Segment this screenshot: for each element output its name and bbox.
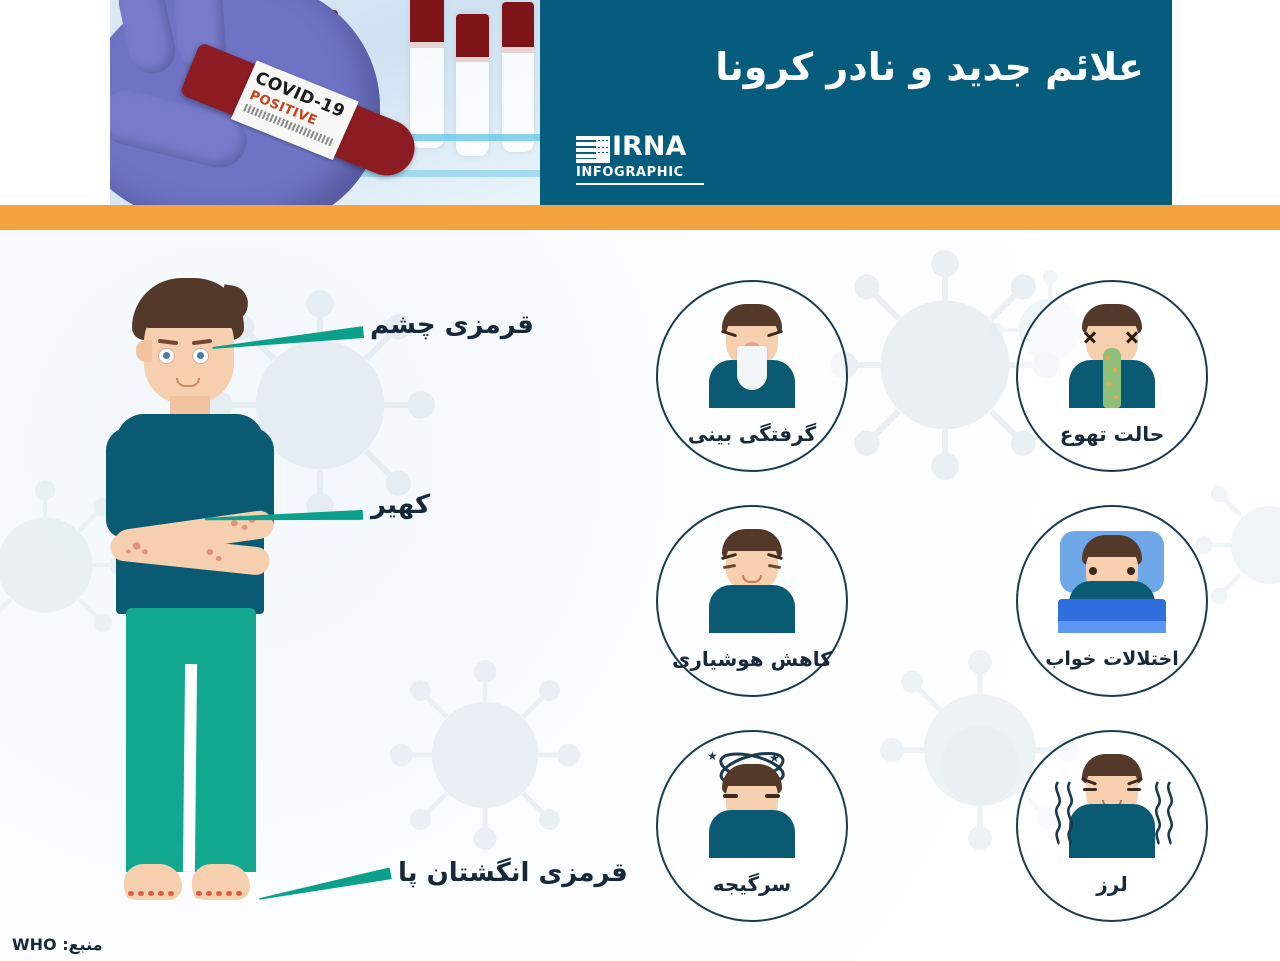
symptom-label: گرفتگی بینی — [658, 424, 846, 444]
symptom-card-reduced-consciousness[interactable]: کاهش هوشیاری — [656, 505, 848, 697]
chills-icon — [1053, 754, 1171, 858]
symptom-card-dizziness[interactable]: ★ ★ سرگیجه — [656, 730, 848, 922]
stuffy-nose-icon — [693, 304, 811, 408]
irna-underline — [576, 183, 704, 185]
page-title: علائم جدید و نادر کرونا — [584, 44, 1144, 92]
irna-logo: IRNA INFOGRAPHIC — [576, 133, 716, 191]
dizziness-icon: ★ ★ — [693, 754, 811, 858]
irna-wordmark: IRNA — [612, 133, 686, 160]
symptom-card-chills[interactable]: لرز — [1016, 730, 1208, 922]
symptom-label: حالت تهوع — [1018, 424, 1206, 444]
symptom-card-nausea[interactable]: حالت تهوع — [1016, 280, 1208, 472]
figure-leg-gap — [183, 664, 197, 872]
symptom-grid: گرفتگی بینی حالت تهوع — [640, 270, 1240, 950]
callout-label: قرمزی انگشتان پا — [398, 860, 628, 886]
infographic-page: COVID-19 POSITIVE علائم جدید و نادر کرون… — [0, 0, 1280, 961]
symptom-label: سرگیجه — [658, 874, 846, 894]
blood-tube — [502, 2, 534, 152]
figure-ear — [136, 340, 152, 362]
figure-eye-red — [158, 348, 175, 364]
irna-subtitle: INFOGRAPHIC — [576, 166, 684, 179]
symptom-card-stuffy-nose[interactable]: گرفتگی بینی — [656, 280, 848, 472]
header-photo: COVID-19 POSITIVE — [110, 0, 540, 205]
patient-figure — [100, 278, 300, 938]
figure-foot-right — [192, 864, 250, 900]
header: COVID-19 POSITIVE علائم جدید و نادر کرون… — [0, 0, 1280, 205]
sleep-disorder-icon — [1053, 529, 1171, 633]
symptom-label: کاهش هوشیاری — [658, 649, 846, 669]
callout-label: قرمزی چشم — [370, 312, 534, 338]
blood-tube — [410, 0, 444, 148]
virus-particle-icon — [390, 660, 580, 850]
symptom-label: اختلالات خواب — [1018, 650, 1206, 669]
figure-hair-front — [136, 292, 240, 328]
source-note: منبع: WHO — [12, 937, 103, 953]
content-area: قرمزی چشم کهیر قرمزی انگشتان پا — [0, 230, 1280, 961]
irna-mark-icon — [576, 136, 610, 163]
title-panel: علائم جدید و نادر کرونا IRNA INFOGRAPHIC — [540, 0, 1172, 205]
nausea-icon — [1053, 304, 1171, 408]
reduced-consciousness-icon — [693, 529, 811, 633]
accent-bar — [0, 205, 1280, 230]
symptom-card-sleep-disorder[interactable]: اختلالات خواب — [1016, 505, 1208, 697]
symptom-label: لرز — [1018, 874, 1206, 894]
callout-label: کهیر — [371, 492, 430, 518]
figure-foot-left — [124, 864, 182, 900]
figure-sleeve-left — [106, 428, 150, 538]
figure-eye-red — [192, 348, 209, 364]
